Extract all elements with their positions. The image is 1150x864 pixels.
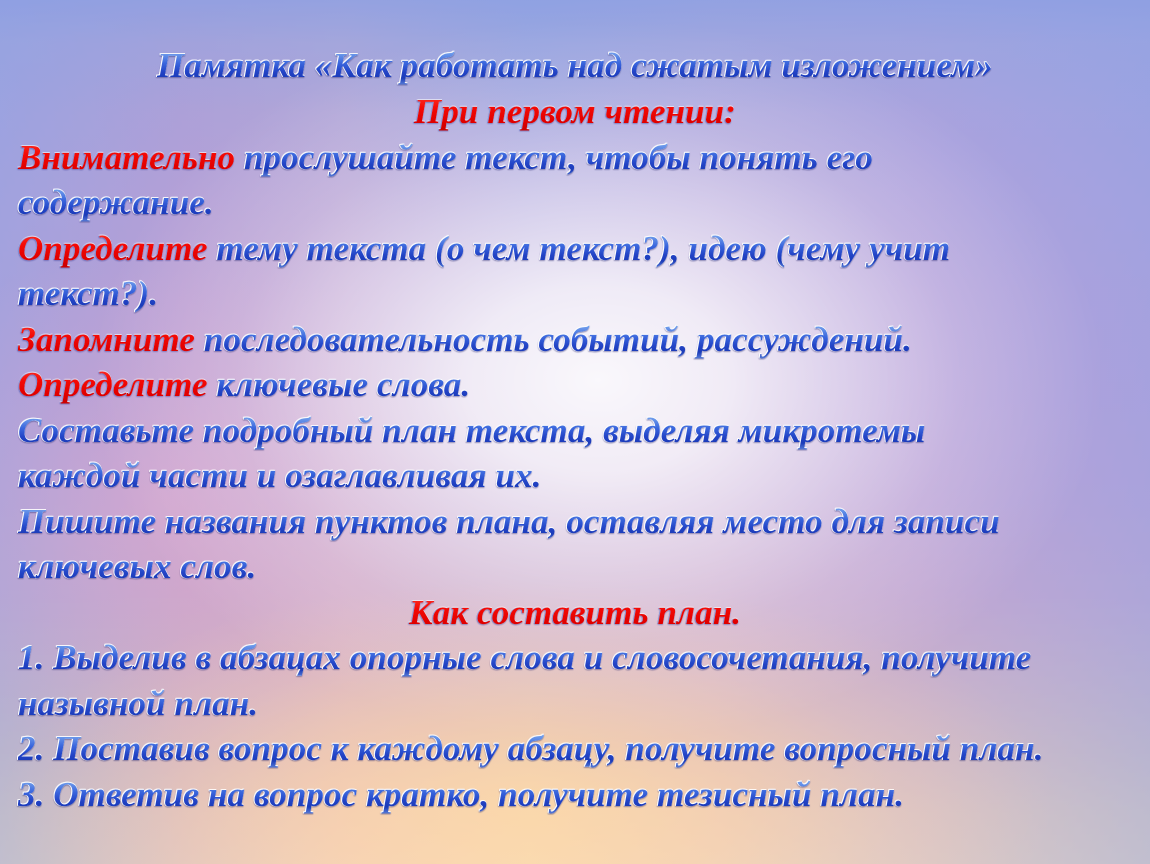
slide-text-body: Памятка «Как работать над сжатым изложен… <box>0 0 1150 817</box>
text-line-plan-item-1a: 1. Выделив в абзацах опорные слова и сло… <box>10 635 1140 681</box>
text-segment-body: ключевые слова. <box>217 365 471 404</box>
text-segment-emphasis: Определите <box>18 365 217 404</box>
text-segment-body: ключевых слов. <box>18 547 256 586</box>
text-segment-emphasis: При первом чтении: <box>414 92 736 131</box>
text-segment-emphasis: Внимательно <box>18 138 244 177</box>
text-segment-body: каждой части и озаглавливая их. <box>18 456 542 495</box>
text-segment-body: назывной план. <box>18 684 258 723</box>
text-segment-emphasis: Как составить план. <box>409 593 741 632</box>
text-segment-body: Пишите названия пунктов плана, оставляя … <box>18 502 1000 541</box>
text-segment-body: 2. Поставив вопрос к каждому абзацу, пол… <box>18 729 1044 768</box>
text-line-step-keywords: Определите ключевые слова. <box>10 362 1140 408</box>
text-line-plan-item-3: 3. Ответив на вопрос кратко, получите те… <box>10 772 1140 818</box>
text-line-subtitle-how-to-plan: Как составить план. <box>10 590 1140 636</box>
text-line-step-write-2: ключевых слов. <box>10 544 1140 590</box>
text-segment-body: Составьте подробный план текста, выделяя… <box>18 411 925 450</box>
text-line-step-theme-2: текст?). <box>10 271 1140 317</box>
text-segment-body: тему текста (о чем текст?), идею (чему у… <box>217 229 951 268</box>
text-segment-body: содержание. <box>18 183 214 222</box>
text-segment-body: текст?). <box>18 274 158 313</box>
text-line-step-plan-1: Составьте подробный план текста, выделяя… <box>10 408 1140 454</box>
text-line-step-theme-1: Определите тему текста (о чем текст?), и… <box>10 226 1140 272</box>
text-segment-body: 3. Ответив на вопрос кратко, получите те… <box>18 775 904 814</box>
text-line-plan-item-2: 2. Поставив вопрос к каждому абзацу, пол… <box>10 726 1140 772</box>
text-line-step-plan-2: каждой части и озаглавливая их. <box>10 453 1140 499</box>
text-line-subtitle-first-reading: При первом чтении: <box>10 89 1140 135</box>
text-line-step-sequence: Запомните последовательность событий, ра… <box>10 317 1140 363</box>
text-segment-body: 1. Выделив в абзацах опорные слова и сло… <box>18 638 1031 677</box>
text-segment-emphasis: Запомните <box>18 320 204 359</box>
text-segment-body: прослушайте текст, чтобы понять его <box>244 138 873 177</box>
text-line-step-write-1: Пишите названия пунктов плана, оставляя … <box>10 499 1140 545</box>
text-segment-body: Памятка «Как работать над сжатым изложен… <box>157 46 993 85</box>
text-line-title: Памятка «Как работать над сжатым изложен… <box>10 42 1140 89</box>
presentation-slide: Памятка «Как работать над сжатым изложен… <box>0 0 1150 864</box>
text-line-plan-item-1b: назывной план. <box>10 681 1140 727</box>
text-line-step-listen-1: Внимательно прослушайте текст, чтобы пон… <box>10 135 1140 181</box>
text-segment-body: последовательность событий, рассуждений. <box>204 320 912 359</box>
text-segment-emphasis: Определите <box>18 229 217 268</box>
text-line-step-listen-2: содержание. <box>10 180 1140 226</box>
